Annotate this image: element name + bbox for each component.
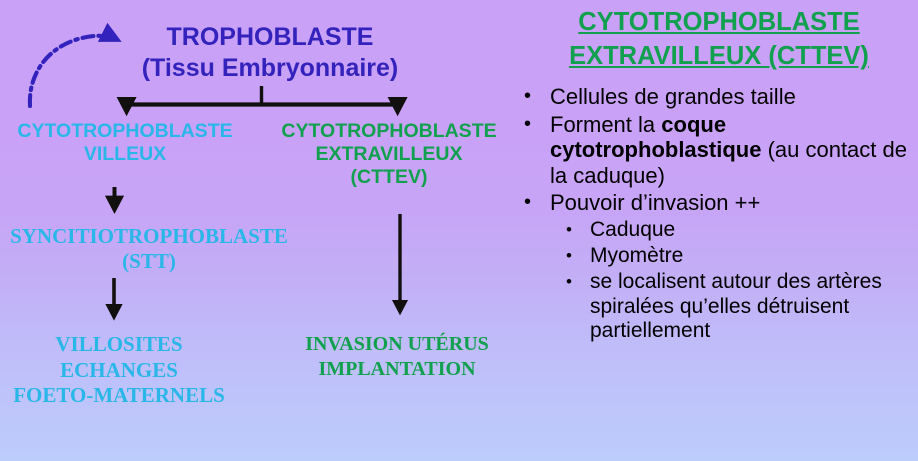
bullet-marker-icon: • [566, 244, 590, 268]
bullet-text: Forment la coque cytotrophoblastique (au… [550, 112, 918, 189]
node-cytotrophoblaste-villeux: CYTOTROPHOBLASTE VILLEUX [0, 120, 250, 166]
node-syncitiotrophoblaste: SYNCITIOTROPHOBLASTE (STT) [0, 224, 298, 274]
node-trophoblaste: TROPHOBLASTE (Tissu Embryonnaire) [110, 22, 430, 85]
bullet-item: •se localisent autour des artères spiral… [520, 270, 918, 343]
bullet-item: •Myomètre [520, 244, 918, 268]
slide-canvas: TROPHOBLASTE (Tissu Embryonnaire) CYTOTR… [0, 0, 918, 461]
bullet-text: Cellules de grandes taille [550, 84, 918, 110]
right-info-panel: CYTOTROPHOBLASTE EXTRAVILLEUX (CTTEV) •C… [520, 0, 918, 461]
bullet-text: Caduque [590, 218, 918, 242]
bullet-item: •Forment la coque cytotrophoblastique (a… [520, 112, 918, 189]
bullet-item: •Cellules de grandes taille [520, 84, 918, 110]
bullet-marker-icon: • [524, 190, 550, 214]
node-cytotrophoblaste-extravilleux: CYTOTROPHOBLASTE EXTRAVILLEUX (CTTEV) [264, 120, 514, 189]
bullet-text: se localisent autour des artères spiralé… [590, 270, 918, 343]
bullet-marker-icon: • [524, 112, 550, 136]
panel-bullet-list: •Cellules de grandes taille•Forment la c… [520, 84, 918, 345]
panel-title: CYTOTROPHOBLASTE EXTRAVILLEUX (CTTEV) [520, 5, 918, 74]
bullet-text: Pouvoir d’invasion ++ [550, 190, 918, 216]
node-villosites-echanges: VILLOSITES ECHANGES FOETO-MATERNELS [0, 332, 238, 409]
bullet-marker-icon: • [566, 218, 590, 242]
bullet-marker-icon: • [524, 84, 550, 108]
curved-dashdot-arrow [30, 36, 118, 106]
bullet-item: •Pouvoir d’invasion ++ [520, 190, 918, 216]
bullet-text: Myomètre [590, 244, 918, 268]
bullet-marker-icon: • [566, 270, 590, 294]
bullet-item: •Caduque [520, 218, 918, 242]
node-invasion-uterus: INVASION UTÉRUS IMPLANTATION [272, 332, 522, 382]
